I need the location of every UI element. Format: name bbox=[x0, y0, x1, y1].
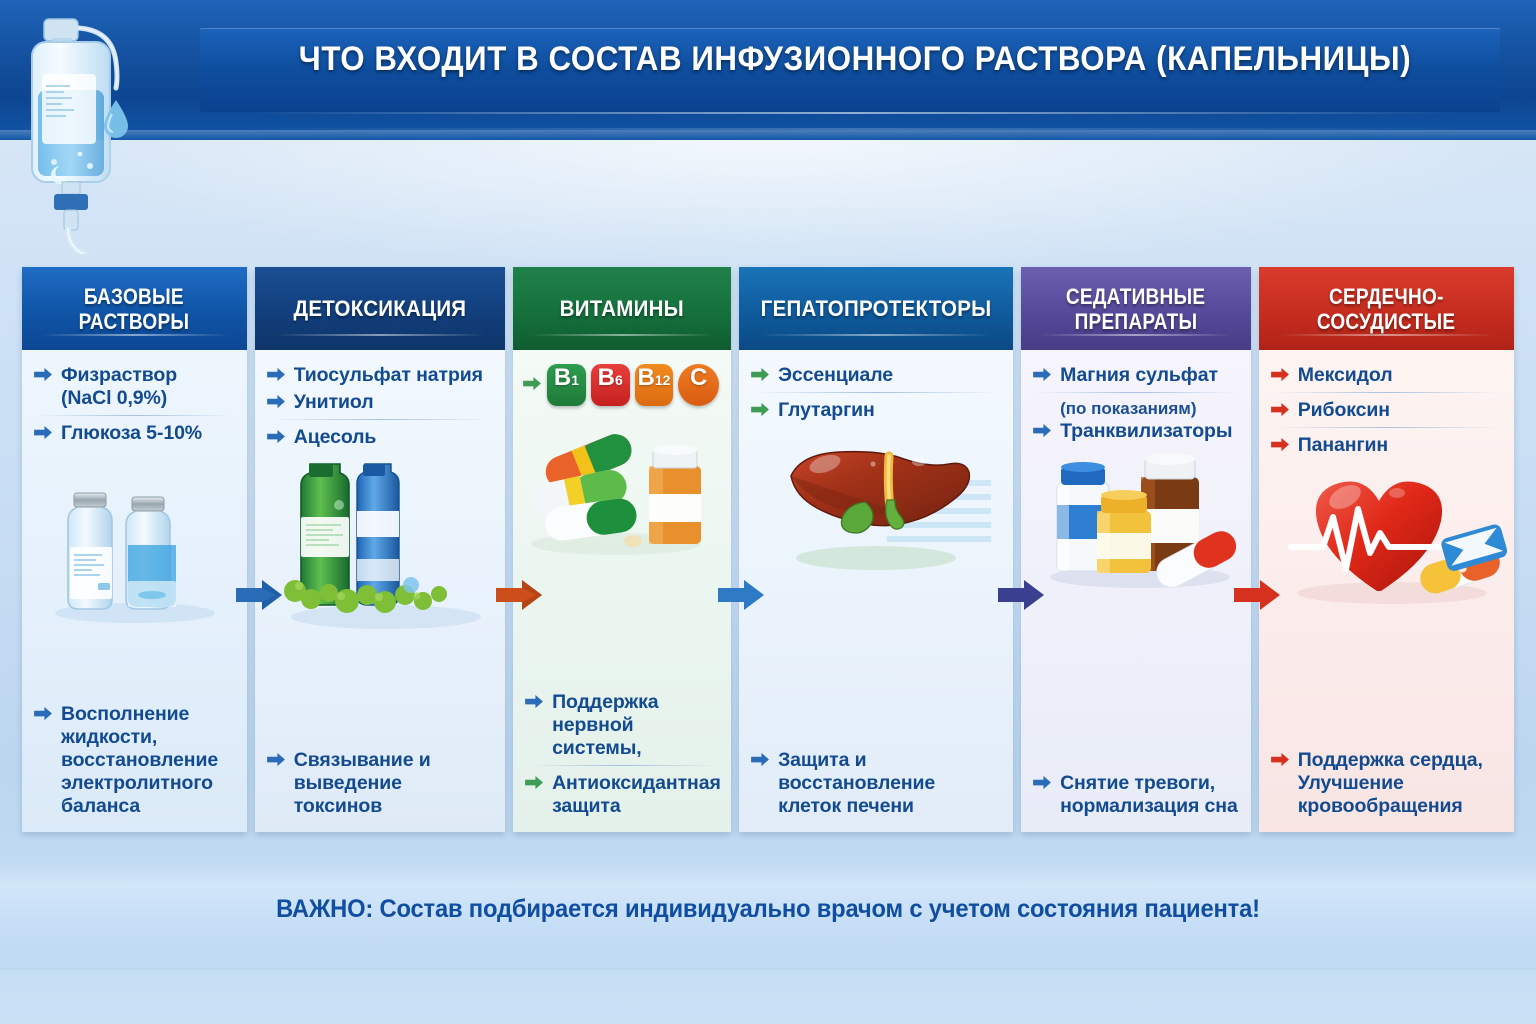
effect-block: Поддержка нервной системы, Антиоксидантн… bbox=[525, 691, 719, 822]
arrow-bullet-icon bbox=[525, 775, 544, 790]
drug-name: Глюкоза 5-10% bbox=[61, 422, 202, 444]
capsules-and-pill-bottle-icon bbox=[525, 406, 719, 691]
arrow-bullet-icon bbox=[34, 706, 53, 721]
column-sedatives[interactable]: СЕДАТИВНЫЕ ПРЕПАРАТЫ Магния сульфат (по … bbox=[1021, 267, 1251, 832]
arrow-bullet-icon bbox=[1271, 402, 1290, 417]
effect-item: Защита и восстановление клеток печени bbox=[751, 749, 1001, 818]
column-hepatoprotectors[interactable]: ГЕПАТОПРОТЕКТОРЫ Эссенциале Глутаргин bbox=[739, 267, 1013, 832]
drug-name: Тиосульфат натрия bbox=[294, 364, 483, 386]
list-item[interactable]: Глутаргин bbox=[751, 399, 1001, 422]
header-line-1: ВИТАМИНЫ bbox=[560, 296, 684, 321]
page-title: ЧТО ВХОДИТ В СОСТАВ ИНФУЗИОННОГО РАСТВОР… bbox=[252, 40, 1457, 79]
indication-note: (по показаниям) bbox=[1033, 399, 1239, 419]
effect-block: Защита и восстановление клеток печени bbox=[751, 749, 1001, 822]
effect-text: Антиоксидантная защита bbox=[552, 772, 721, 817]
arrow-sedative-to-cardio bbox=[1234, 578, 1300, 612]
header-line-2: РАСТВОРЫ bbox=[79, 309, 190, 334]
drug-name: Магния сульфат bbox=[1060, 364, 1218, 386]
effect-text: Защита и восстановление клеток печени bbox=[778, 749, 935, 817]
column-header-hepatoprotectors: ГЕПАТОПРОТЕКТОРЫ bbox=[739, 267, 1013, 350]
vitamin-b1-badge[interactable]: B1 bbox=[547, 364, 586, 406]
arrow-bullet-icon bbox=[751, 752, 770, 767]
arrow-bullet-icon bbox=[1033, 775, 1052, 790]
vitamin-badge-row: B1 B6 B12 C bbox=[525, 364, 719, 406]
list-item[interactable]: Ацесоль bbox=[267, 426, 493, 449]
badge-label: B bbox=[638, 364, 655, 392]
footer-note: ВАЖНО: Состав подбирается индивидуально … bbox=[38, 895, 1497, 924]
badge-label: B bbox=[598, 364, 615, 392]
drug-list: Магния сульфат (по показаниям) Транквили… bbox=[1033, 364, 1239, 447]
drug-name: Транквилизаторы bbox=[1060, 420, 1232, 442]
list-item[interactable]: Панангин bbox=[1271, 434, 1502, 457]
list-divider bbox=[527, 765, 717, 766]
list-item[interactable]: Физраствор (NaCl 0,9%) bbox=[34, 364, 235, 410]
vitamin-c-badge[interactable]: C bbox=[678, 364, 719, 406]
arrow-bullet-icon bbox=[1271, 437, 1290, 452]
list-item[interactable]: Мексидол bbox=[1271, 364, 1502, 387]
effect-item: Антиоксидантная защита bbox=[525, 772, 719, 818]
list-item[interactable]: Транквилизаторы bbox=[1033, 420, 1239, 443]
effect-item: Поддержка сердца, Улучшение кровообращен… bbox=[1271, 749, 1502, 818]
header-line-2: ПРЕПАРАТЫ bbox=[1074, 309, 1197, 334]
arrow-detox-to-vitamins bbox=[496, 578, 562, 612]
list-item[interactable]: Глюкоза 5-10% bbox=[34, 422, 235, 445]
badge-label: B bbox=[554, 364, 571, 392]
arrow-vitamins-to-hepato bbox=[718, 578, 784, 612]
effect-block: Снятие тревоги, нормализация сна bbox=[1033, 772, 1239, 822]
vitamin-b12-badge[interactable]: B12 bbox=[635, 364, 674, 406]
list-item[interactable]: Эссенциале bbox=[751, 364, 1001, 387]
drug-name: Физраствор bbox=[61, 364, 177, 386]
column-header-detoxification: ДЕТОКСИКАЦИЯ bbox=[255, 267, 505, 350]
header-line-1: ДЕТОКСИКАЦИЯ bbox=[293, 296, 466, 321]
list-item[interactable]: Унитиол bbox=[267, 391, 493, 414]
effect-text: Восполнение жидкости, восстановление эле… bbox=[61, 703, 218, 817]
drug-name: Эссенциале bbox=[778, 364, 893, 386]
column-header-sedatives: СЕДАТИВНЫЕ ПРЕПАРАТЫ bbox=[1021, 267, 1251, 350]
arrow-bullet-icon bbox=[1271, 367, 1290, 382]
arrow-bullet-icon bbox=[1033, 423, 1052, 438]
arrow-base-to-detox bbox=[236, 578, 302, 612]
list-divider bbox=[36, 415, 233, 416]
vitamin-b6-badge[interactable]: B6 bbox=[591, 364, 630, 406]
arrow-bullet-icon bbox=[751, 367, 770, 382]
category-columns: БАЗОВЫЕ РАСТВОРЫ Физраствор (NaCl 0,9%) … bbox=[22, 267, 1514, 832]
arrow-bullet-icon bbox=[523, 376, 542, 391]
arrow-bullet-icon bbox=[267, 394, 286, 409]
background-glow bbox=[0, 140, 1536, 270]
drug-name: Глутаргин bbox=[778, 399, 875, 421]
list-divider bbox=[1273, 427, 1500, 428]
drug-list: Физраствор (NaCl 0,9%) Глюкоза 5-10% bbox=[34, 364, 235, 449]
drug-name: Мексидол bbox=[1298, 364, 1393, 386]
arrow-bullet-icon bbox=[525, 694, 544, 709]
header-line-2: СОСУДИСТЫЕ bbox=[1317, 309, 1455, 334]
header-line-1: СЕДАТИВНЫЕ bbox=[1066, 284, 1205, 309]
two-infusion-vials-icon bbox=[34, 449, 235, 703]
liver-organ-icon bbox=[751, 426, 1001, 749]
heart-with-ecg-and-pills-icon bbox=[1271, 461, 1502, 749]
drug-name: Ацесоль bbox=[294, 426, 377, 448]
list-item[interactable]: Тиосульфат натрия bbox=[267, 364, 493, 387]
column-cardiovascular[interactable]: СЕРДЕЧНО- СОСУДИСТЫЕ Мексидол Рибоксин П… bbox=[1259, 267, 1514, 832]
effect-block: Поддержка сердца, Улучшение кровообращен… bbox=[1271, 749, 1502, 822]
effect-text: Поддержка нервной системы, bbox=[552, 691, 658, 759]
column-header-base-solutions: БАЗОВЫЕ РАСТВОРЫ bbox=[22, 267, 247, 350]
drug-name: Панангин bbox=[1298, 434, 1388, 456]
list-divider bbox=[269, 419, 491, 420]
column-header-vitamins: ВИТАМИНЫ bbox=[513, 267, 731, 350]
badge-label: C bbox=[690, 364, 707, 392]
effect-text: Снятие тревоги, нормализация сна bbox=[1060, 772, 1238, 817]
arrow-bullet-icon bbox=[1271, 752, 1290, 767]
arrow-bullet-icon bbox=[267, 429, 286, 444]
header-line-1: СЕРДЕЧНО- bbox=[1329, 284, 1444, 309]
arrow-bullet-icon bbox=[34, 425, 53, 440]
badge-sub: 12 bbox=[655, 373, 671, 387]
arrow-bullet-icon bbox=[267, 752, 286, 767]
list-item[interactable]: Рибоксин bbox=[1271, 399, 1502, 422]
drug-list: Мексидол Рибоксин Панангин bbox=[1271, 364, 1502, 461]
drug-name-detail: (NaCl 0,9%) bbox=[61, 387, 167, 409]
header-line-1: ГЕПАТОПРОТЕКТОРЫ bbox=[761, 296, 992, 321]
effect-block: Восполнение жидкости, восстановление эле… bbox=[34, 703, 235, 822]
title-divider-top bbox=[248, 112, 1458, 114]
arrow-bullet-icon bbox=[267, 367, 286, 382]
drug-list: Тиосульфат натрия Унитиол Ацесоль bbox=[267, 364, 493, 453]
effect-text: Связывание и выведение токсинов bbox=[294, 749, 431, 817]
effect-block: Связывание и выведение токсинов bbox=[267, 749, 493, 822]
list-item[interactable]: Магния сульфат bbox=[1033, 364, 1239, 387]
effect-item: Связывание и выведение токсинов bbox=[267, 749, 493, 818]
column-body-base-solutions: Физраствор (NaCl 0,9%) Глюкоза 5-10% bbox=[22, 350, 247, 832]
drug-name: Унитиол bbox=[294, 391, 374, 413]
column-detoxification[interactable]: ДЕТОКСИКАЦИЯ Тиосульфат натрия Унитиол А… bbox=[255, 267, 505, 832]
effect-item: Восполнение жидкости, восстановление эле… bbox=[34, 703, 235, 818]
drug-list: Эссенциале Глутаргин bbox=[751, 364, 1001, 426]
arrow-bullet-icon bbox=[1033, 367, 1052, 382]
list-divider bbox=[753, 392, 999, 393]
header-line-1: БАЗОВЫЕ bbox=[84, 284, 184, 309]
column-base-solutions[interactable]: БАЗОВЫЕ РАСТВОРЫ Физраствор (NaCl 0,9%) … bbox=[22, 267, 247, 832]
arrow-hepato-to-sedative bbox=[998, 578, 1064, 612]
list-divider bbox=[1035, 392, 1237, 393]
arrow-bullet-icon bbox=[751, 402, 770, 417]
effect-text: Поддержка сердца, Улучшение кровообращен… bbox=[1298, 749, 1483, 817]
effect-item: Снятие тревоги, нормализация сна bbox=[1033, 772, 1239, 818]
title-divider-bottom bbox=[248, 128, 1458, 130]
effect-item: Поддержка нервной системы, bbox=[525, 691, 719, 760]
column-vitamins[interactable]: ВИТАМИНЫ B1 B6 B12 C bbox=[513, 267, 731, 832]
column-header-cardiovascular: СЕРДЕЧНО- СОСУДИСТЫЕ bbox=[1259, 267, 1514, 350]
arrow-bullet-icon bbox=[34, 367, 53, 382]
list-divider bbox=[1273, 392, 1500, 393]
drug-name: Рибоксин bbox=[1298, 399, 1390, 421]
badge-sub: 6 bbox=[615, 373, 623, 387]
badge-sub: 1 bbox=[571, 373, 579, 387]
